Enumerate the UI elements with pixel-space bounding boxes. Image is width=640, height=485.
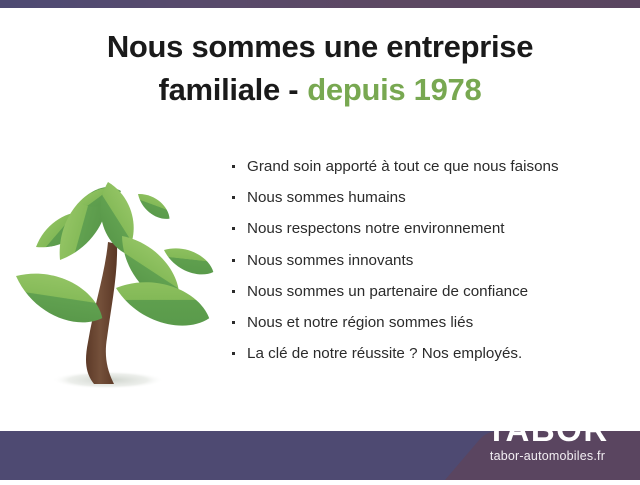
bullet-dot-icon xyxy=(232,290,235,293)
list-item-label: Nous respectons notre environnement xyxy=(247,220,505,237)
benefits-list: Grand soin apporté à tout ce que nous fa… xyxy=(231,158,631,377)
list-item-label: Nous sommes humains xyxy=(247,189,406,206)
top-accent-strip xyxy=(0,0,640,8)
list-item: Nous sommes un partenaire de confiance xyxy=(231,283,631,301)
page-title-line-2: familiale -depuis 1978 xyxy=(0,69,640,112)
slide-canvas: Nous sommes une entreprise familiale -de… xyxy=(0,8,640,480)
bullet-dot-icon xyxy=(232,227,235,230)
list-item-label: Nous et notre région sommes liés xyxy=(247,314,473,331)
bullet-dot-icon xyxy=(232,259,235,262)
list-item-label: Nous sommes un partenaire de confiance xyxy=(247,283,528,300)
page-title: Nous sommes une entreprise familiale -de… xyxy=(0,26,640,112)
bullet-dot-icon xyxy=(232,165,235,168)
list-item: Nous sommes innovants xyxy=(231,252,631,270)
list-item-label: Nous sommes innovants xyxy=(247,252,413,269)
bullet-dot-icon xyxy=(232,321,235,324)
bullet-dot-icon xyxy=(232,196,235,199)
tree-leaf-top-right xyxy=(133,188,174,224)
list-item-label: La clé de notre réussite ? Nos employés. xyxy=(247,345,522,362)
page-title-accent: depuis 1978 xyxy=(307,72,481,107)
list-item: Nous sommes humains xyxy=(231,189,631,207)
list-item: Nous respectons notre environnement xyxy=(231,220,631,238)
page-title-line-1: Nous sommes une entreprise xyxy=(0,26,640,69)
list-item: La clé de notre réussite ? Nos employés. xyxy=(231,345,631,363)
list-item: Nous et notre région sommes liés xyxy=(231,314,631,332)
brand-website: tabor-automobiles.fr xyxy=(455,450,640,463)
tree-illustration xyxy=(8,156,222,400)
list-item: Grand soin apporté à tout ce que nous fa… xyxy=(231,158,631,176)
bullet-dot-icon xyxy=(232,352,235,355)
brand-name: TABOR xyxy=(455,413,640,446)
brand-logo[interactable]: TABOR tabor-automobiles.fr xyxy=(455,413,640,463)
footer: TABOR tabor-automobiles.fr xyxy=(0,431,640,480)
list-item-label: Grand soin apporté à tout ce que nous fa… xyxy=(247,158,559,175)
page-title-line-2-main: familiale - xyxy=(159,72,299,107)
